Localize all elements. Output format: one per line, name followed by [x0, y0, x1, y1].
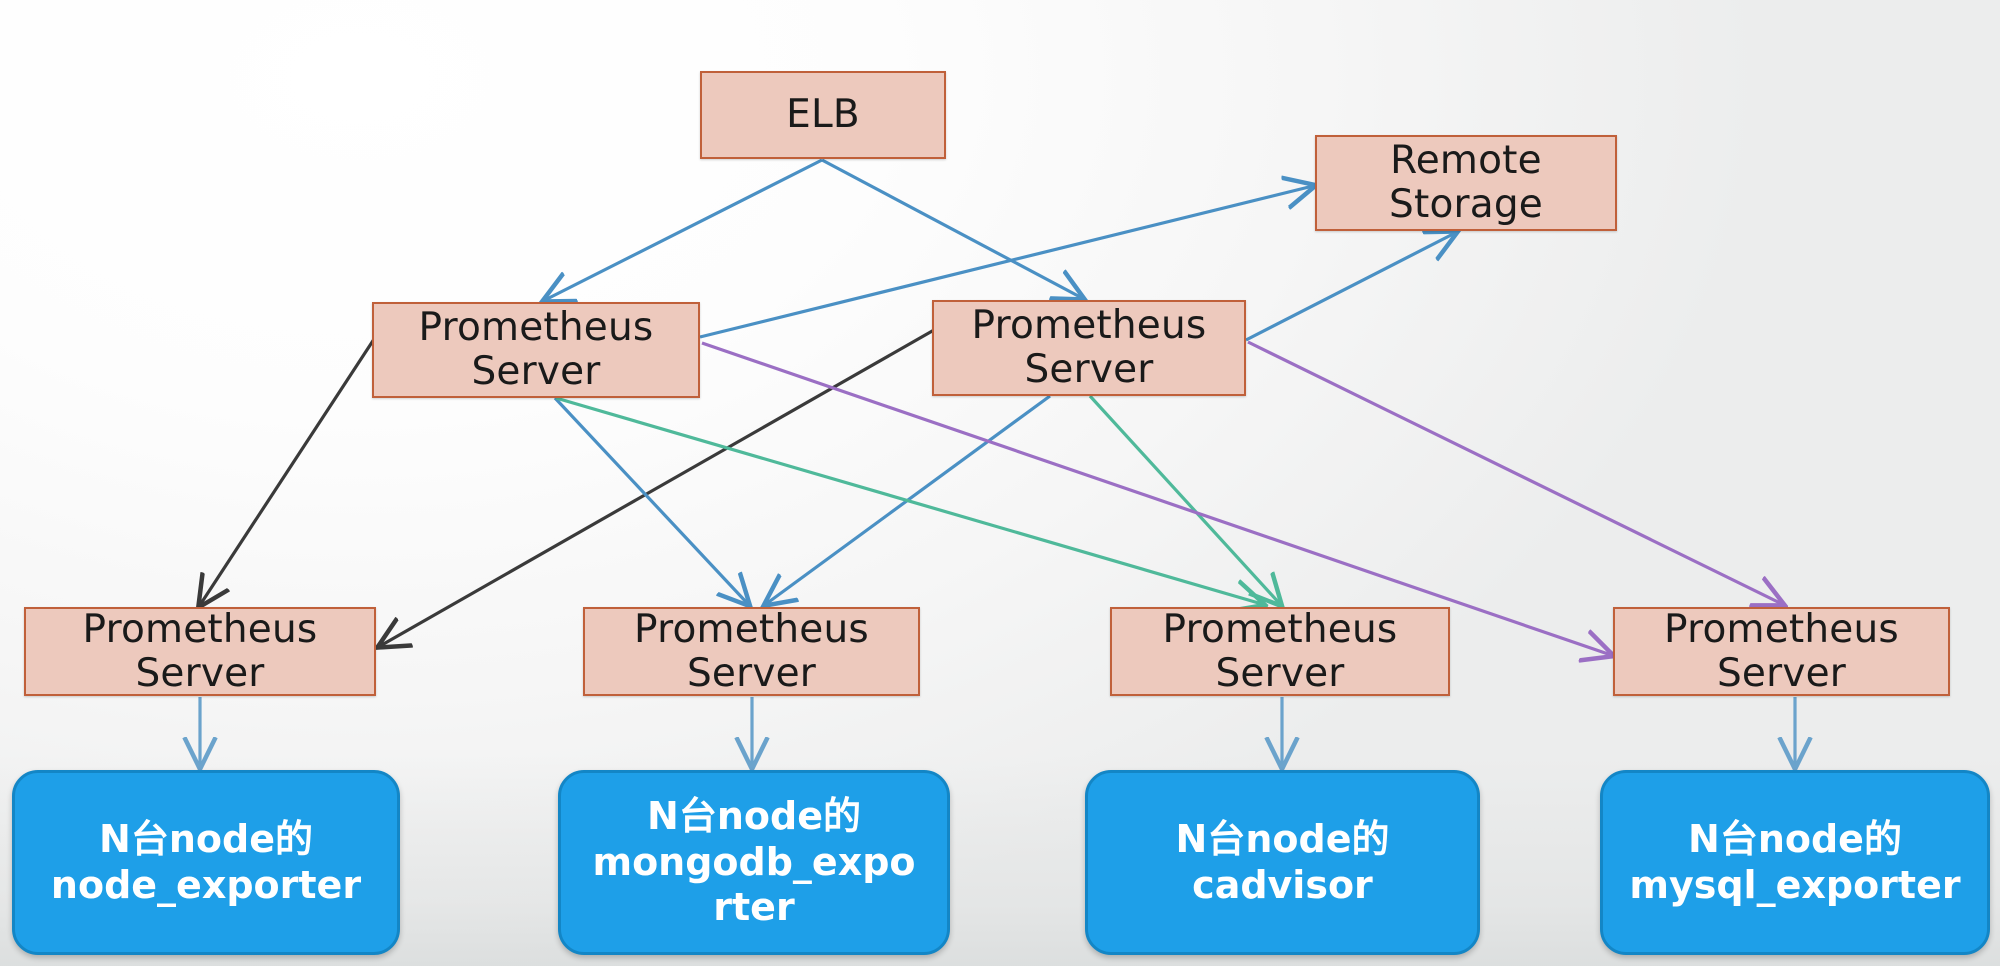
edge-ps-mid-right-to-remote — [1246, 233, 1455, 340]
node-mongodb-exporter-label: N台node的 mongodb_expo rter — [575, 794, 933, 931]
node-prometheus-server-bottom-2[interactable]: Prometheus Server — [583, 607, 920, 696]
edge-ps-mid-right-to-ps-b4 — [1248, 342, 1782, 604]
edge-elb-to-ps-mid-left — [545, 160, 822, 300]
node-remote-storage-label: Remote Storage — [1389, 139, 1543, 226]
edge-ps-mid-left-to-ps-b3 — [556, 398, 1262, 604]
node-prometheus-server-mid-left[interactable]: Prometheus Server — [372, 302, 700, 398]
node-mysql-exporter[interactable]: N台node的 mysql_exporter — [1600, 770, 1990, 955]
node-prometheus-server-bottom-1-label: Prometheus Server — [83, 608, 318, 695]
diagram-canvas: ELB Remote Storage Prometheus Server Pro… — [0, 0, 2000, 966]
node-node-exporter[interactable]: N台node的 node_exporter — [12, 770, 400, 955]
edge-ps-mid-left-to-ps-b2 — [555, 398, 748, 604]
node-elb-label: ELB — [786, 93, 860, 137]
node-prometheus-server-mid-right[interactable]: Prometheus Server — [932, 300, 1246, 396]
node-prometheus-server-mid-left-label: Prometheus Server — [419, 306, 654, 393]
node-node-exporter-label: N台node的 node_exporter — [51, 817, 361, 908]
node-cadvisor-label: N台node的 cadvisor — [1176, 817, 1390, 908]
node-prometheus-server-bottom-3[interactable]: Prometheus Server — [1110, 607, 1450, 696]
node-prometheus-server-bottom-3-label: Prometheus Server — [1163, 608, 1398, 695]
edge-ps-mid-left-to-ps-b1 — [200, 330, 380, 605]
node-prometheus-server-bottom-4-label: Prometheus Server — [1664, 608, 1899, 695]
node-mongodb-exporter[interactable]: N台node的 mongodb_expo rter — [558, 770, 950, 955]
edge-elb-to-ps-mid-right — [822, 160, 1082, 298]
node-mysql-exporter-label: N台node的 mysql_exporter — [1629, 817, 1960, 908]
node-prometheus-server-bottom-4[interactable]: Prometheus Server — [1613, 607, 1950, 696]
node-remote-storage[interactable]: Remote Storage — [1315, 135, 1617, 231]
node-cadvisor[interactable]: N台node的 cadvisor — [1085, 770, 1480, 955]
edge-ps-mid-right-to-ps-b3 — [1090, 396, 1280, 604]
edge-ps-mid-right-to-ps-b2 — [766, 396, 1050, 604]
node-prometheus-server-mid-right-label: Prometheus Server — [972, 304, 1207, 391]
node-prometheus-server-bottom-2-label: Prometheus Server — [634, 608, 869, 695]
node-prometheus-server-bottom-1[interactable]: Prometheus Server — [24, 607, 376, 696]
node-elb[interactable]: ELB — [700, 71, 946, 159]
